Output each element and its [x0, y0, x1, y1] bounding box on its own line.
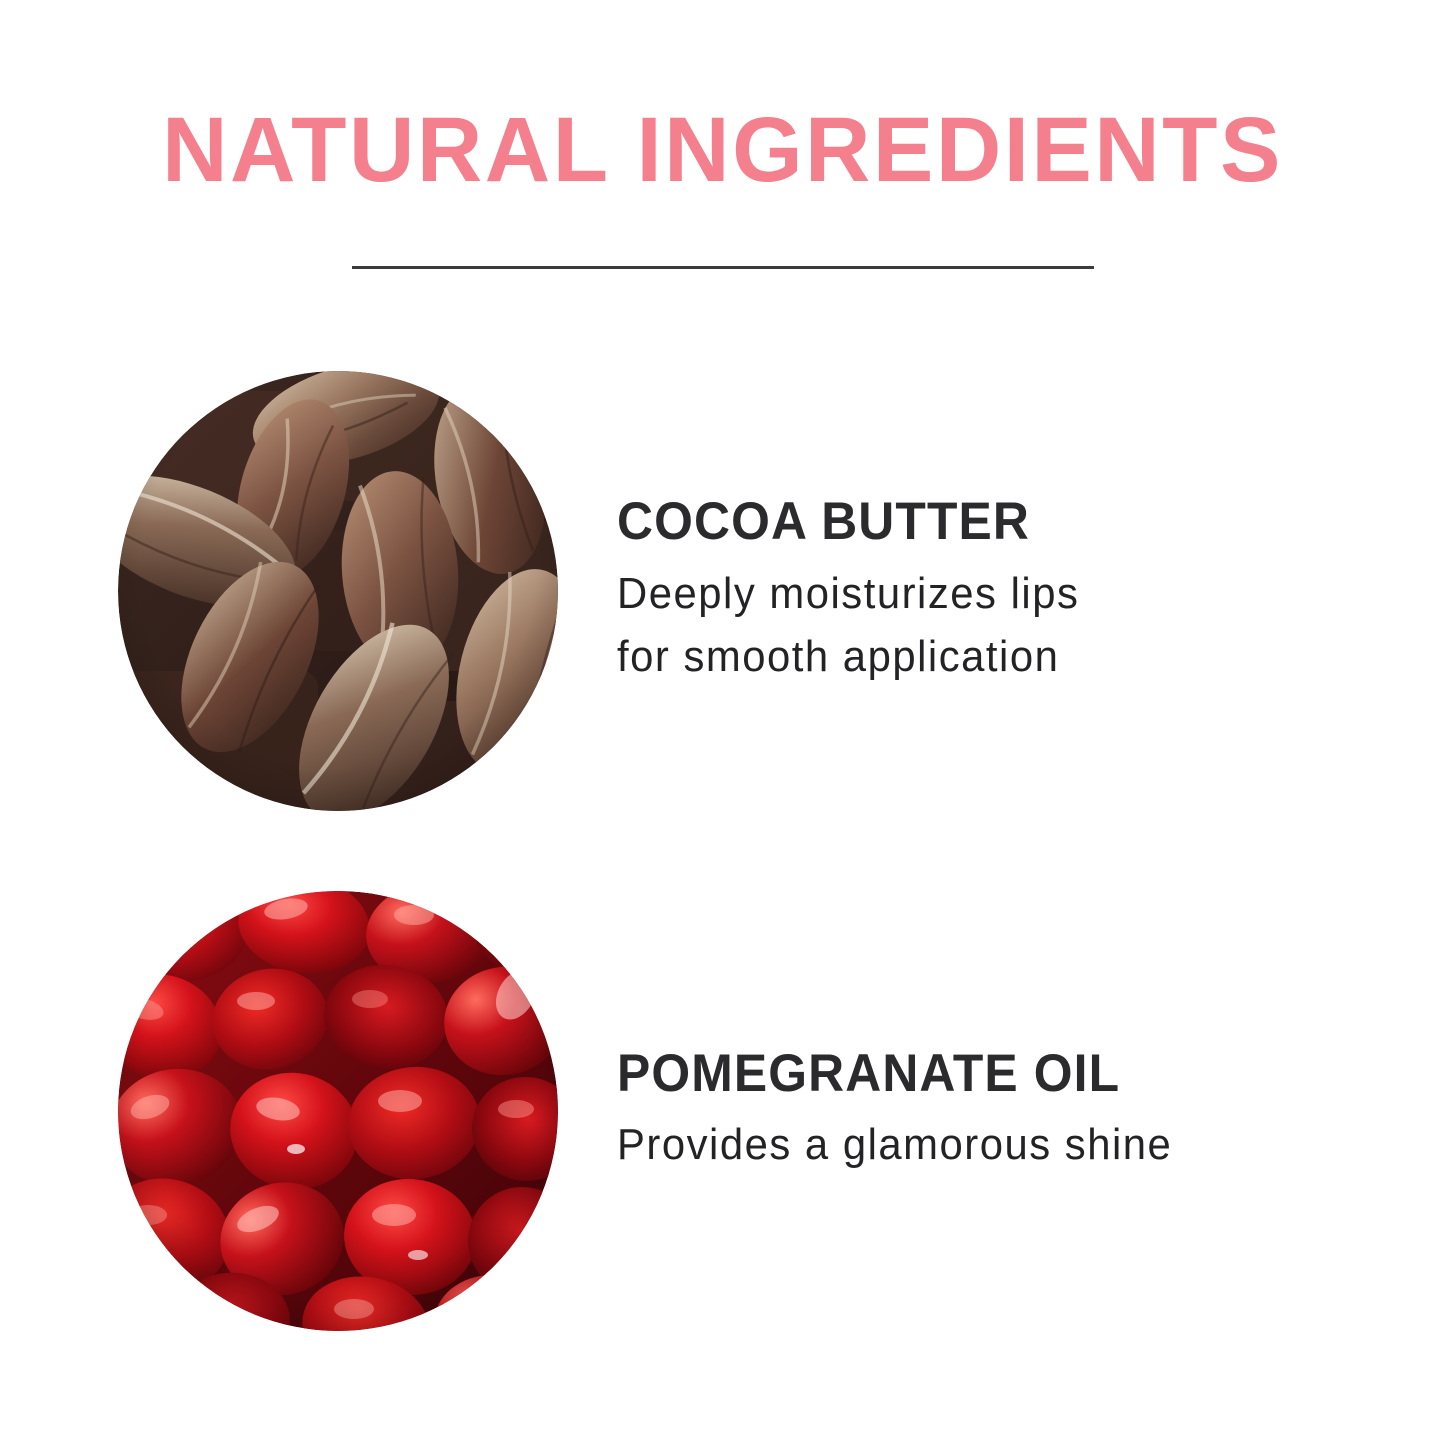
page-title: NATURAL INGREDIENTS	[11, 104, 1434, 196]
ingredient-row-pomegranate-oil: POMEGRANATE OIL Provides a glamorous shi…	[0, 890, 1445, 1332]
header-divider-wrap	[0, 266, 1445, 269]
ingredient-description-cocoa-butter: Deeply moisturizes lips for smooth appli…	[617, 563, 1347, 688]
natural-ingredients-panel: NATURAL INGREDIENTS	[0, 0, 1445, 1445]
description-line: Provides a glamorous shine	[617, 1114, 1347, 1176]
ingredient-name-pomegranate-oil: POMEGRANATE OIL	[617, 1046, 1339, 1102]
description-line: Deeply moisturizes lips	[617, 563, 1347, 625]
cocoa-beans-photo	[118, 371, 558, 811]
ingredient-copy-pomegranate-oil: POMEGRANATE OIL Provides a glamorous shi…	[617, 1046, 1445, 1176]
header: NATURAL INGREDIENTS	[0, 104, 1445, 196]
header-divider	[352, 266, 1094, 269]
pomegranate-arils-photo	[118, 891, 558, 1331]
ingredient-description-pomegranate-oil: Provides a glamorous shine	[617, 1114, 1347, 1176]
ingredient-row-cocoa-butter: COCOA BUTTER Deeply moisturizes lips for…	[0, 370, 1445, 812]
ingredient-copy-cocoa-butter: COCOA BUTTER Deeply moisturizes lips for…	[617, 494, 1445, 689]
ingredient-name-cocoa-butter: COCOA BUTTER	[617, 494, 1339, 550]
description-line: for smooth application	[617, 626, 1347, 688]
